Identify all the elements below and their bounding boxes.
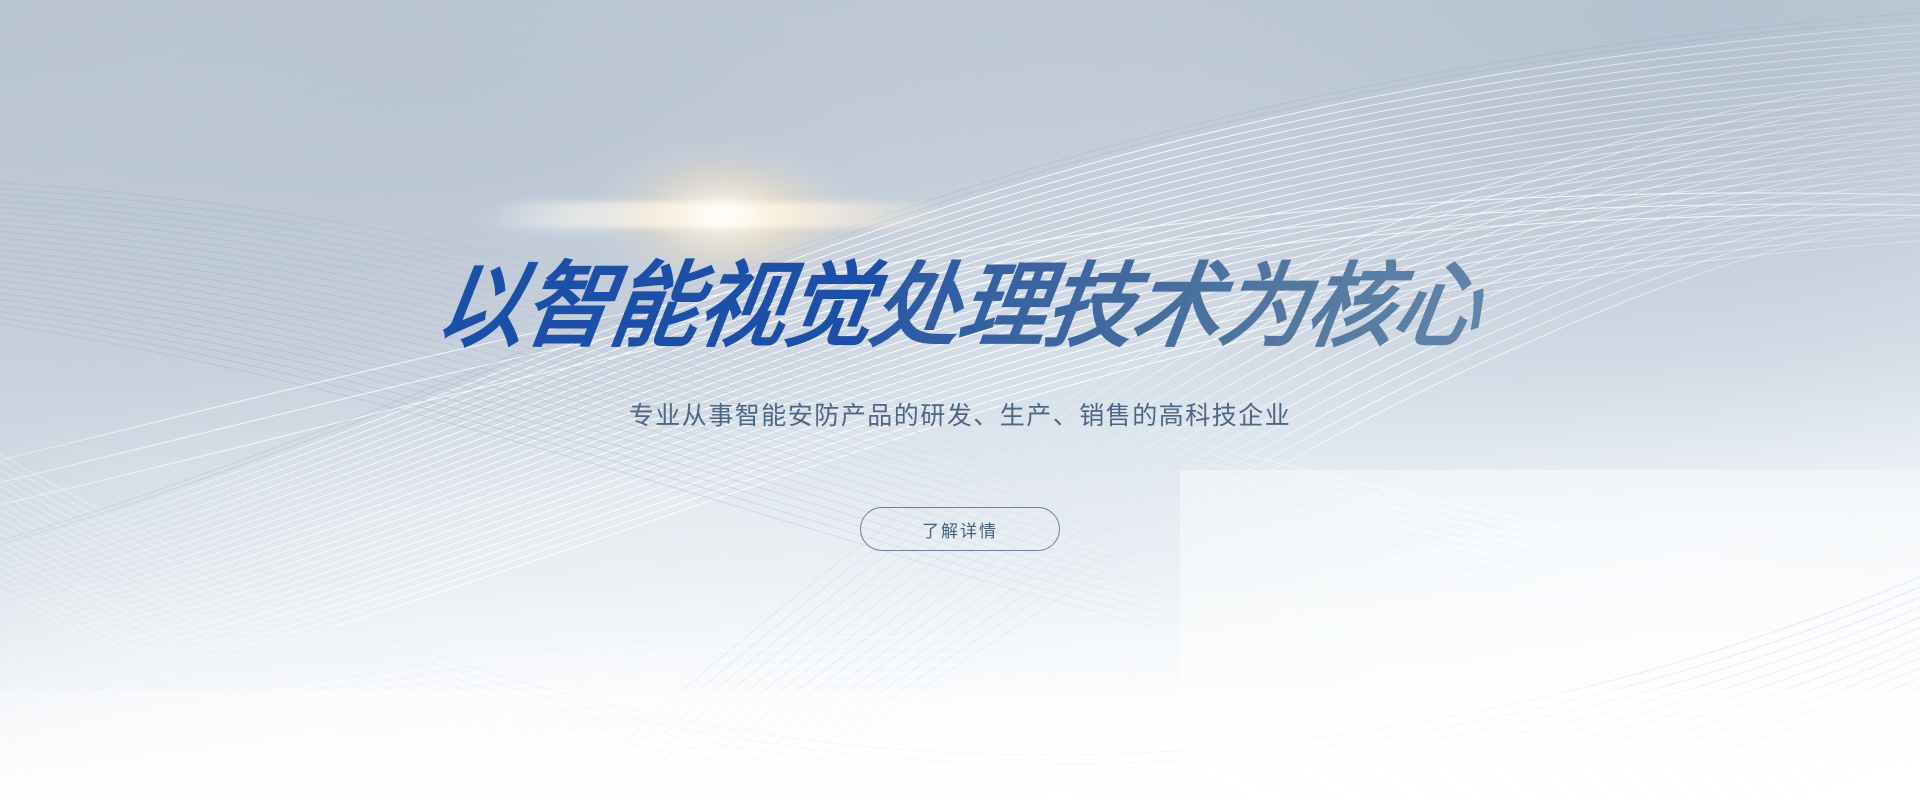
hero-banner: 以智能视觉处理技术为核心 专业从事智能安防产品的研发、生产、销售的高科技企业 了… <box>0 0 1920 800</box>
headline-segment-secondary: 处理技术为核心 <box>866 259 1490 352</box>
hero-content: 以智能视觉处理技术为核心 专业从事智能安防产品的研发、生产、销售的高科技企业 了… <box>0 0 1920 800</box>
hero-subtitle: 专业从事智能安防产品的研发、生产、销售的高科技企业 <box>0 398 1920 436</box>
learn-more-button[interactable]: 了解详情 <box>860 507 1060 551</box>
hero-headline: 以智能视觉处理技术为核心 <box>0 262 1920 350</box>
hero-cta-container: 了解详情 <box>0 507 1920 551</box>
headline-segment-primary: 以智能视觉 <box>431 259 881 352</box>
